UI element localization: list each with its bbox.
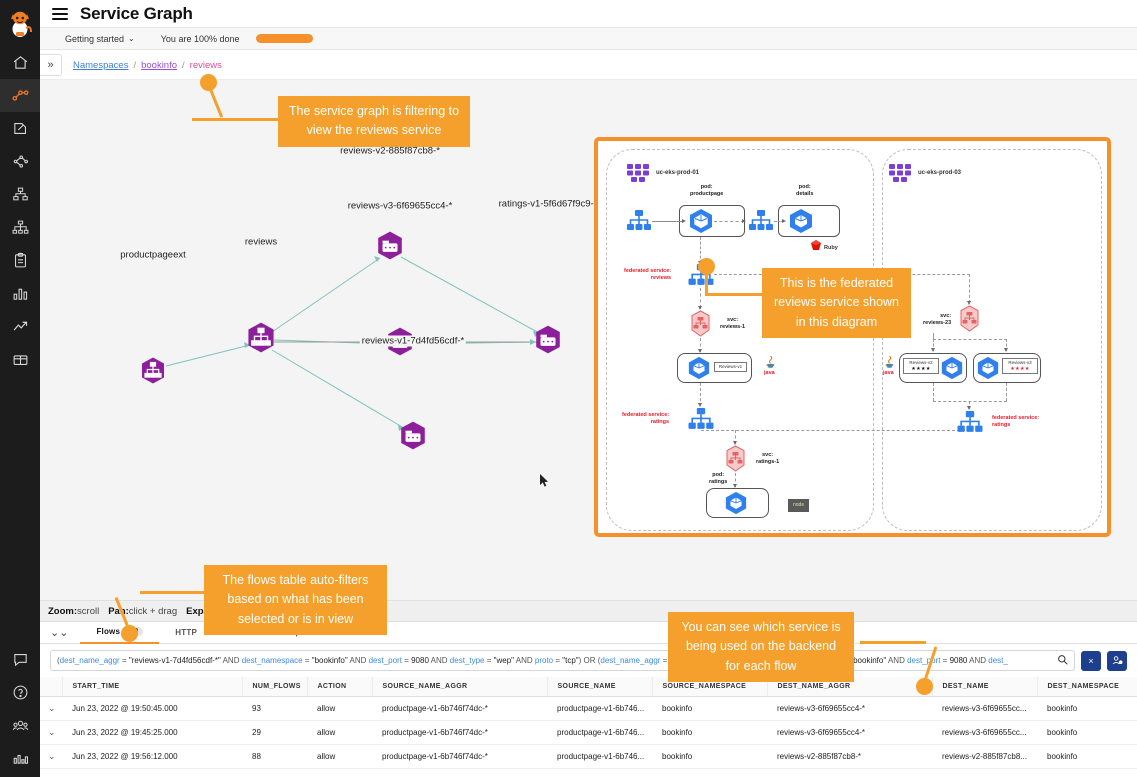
bar-chart-icon[interactable] <box>0 742 40 775</box>
cell-action: allow <box>307 769 372 777</box>
table-header-dest-name[interactable]: DEST_NAME <box>932 677 1037 697</box>
mouse-cursor <box>540 474 550 488</box>
table-header-row: START_TIME NUM_FLOWS ACTION SOURCE_NAME_… <box>40 677 1137 697</box>
callout-line <box>705 293 765 296</box>
cell-dest-namespace: bookinfo <box>1037 769 1137 777</box>
svc-reviews-1-label: svc:reviews-1 <box>720 317 745 332</box>
edge-svc-to-productpage <box>652 221 684 222</box>
pod-reviews-v2-icon <box>940 356 964 380</box>
graph-node-reviews[interactable] <box>246 322 276 359</box>
table-header-source-name-aggr[interactable]: SOURCE_NAME_AGGR <box>372 677 547 697</box>
cluster-icon <box>888 163 914 183</box>
tab-flows[interactable]: Flows 20 <box>80 622 159 644</box>
svc-ratings-1-label: svc:ratings-1 <box>756 452 779 467</box>
graph-node-ratings-v1[interactable] <box>534 325 562 360</box>
edge-fed-ratings-link <box>701 430 970 431</box>
reviews-v2-title: Reviews-v2 <box>906 360 936 366</box>
cell-num-flows: 29 <box>242 721 307 745</box>
cell-source-namespace: bookinfo <box>652 721 767 745</box>
svc-reviews-23-label: svc:reviews-23 <box>923 313 951 328</box>
cell-source-namespace: bookinfo <box>652 697 767 721</box>
cell-start-time: Jun 23, 2022 @ 19:50:45.000 <box>62 697 242 721</box>
pod-details-icon <box>788 208 814 234</box>
arrow-icon <box>782 219 786 223</box>
search-query-text: (dest_name_aggr = "reviews-v1-7d4fd56cdf… <box>57 656 1053 665</box>
cell-dest-name-aggr: reviews-v2-885f87cb8-* <box>767 769 932 777</box>
edge-reviews23-split <box>933 339 1007 340</box>
callout-line <box>140 591 210 594</box>
cell-source-name-aggr: productpage-v1-6b746f74dc-* <box>372 769 547 777</box>
clear-search-button[interactable]: × <box>1081 651 1101 671</box>
save-query-icon[interactable] <box>1107 651 1127 671</box>
breadcrumb-item-namespaces[interactable]: Namespaces <box>73 60 128 71</box>
ruby-logo-icon <box>810 240 822 251</box>
table-row[interactable]: ⌄ Jun 23, 2022 @ 19:50:45.000 93 allow p… <box>40 697 1137 721</box>
callout-dot-backend-service <box>916 678 933 695</box>
cell-dest-name-aggr: reviews-v3-6f69655cc4-* <box>767 697 932 721</box>
pod-reviews-v1-icon <box>687 356 711 380</box>
zoom-hint-value: scroll <box>77 606 99 617</box>
tab-flows-label: Flows <box>96 627 120 636</box>
reviews-v2-card: Reviews-v2 ★★★★ <box>903 358 939 374</box>
callout-dot-flows-autofilter <box>121 625 138 642</box>
edge-merge <box>933 401 1007 402</box>
sidebar-item-endpoints[interactable] <box>0 178 40 211</box>
reviews-v3-title: Reviews-v3 <box>1005 360 1035 366</box>
graph-node-label: reviews-v3-6f69655cc4-* <box>346 201 455 212</box>
cell-action: allow <box>307 721 372 745</box>
cell-start-time: Jun 23, 2022 @ 19:56:12.000 <box>62 745 242 769</box>
table-header-expander <box>40 677 62 697</box>
cluster-icon <box>626 163 652 183</box>
java-badge-label: java <box>764 370 775 377</box>
svc-reviews-1-icon <box>687 310 714 338</box>
graph-node-reviews-v2[interactable] <box>376 231 404 266</box>
table-header-start-time[interactable]: START_TIME <box>62 677 242 697</box>
table-row[interactable]: ⌄ Jun 23, 2022 @ 19:56:12.000 88 allow p… <box>40 745 1137 769</box>
callout-line <box>860 641 926 644</box>
sidebar-item-nodes[interactable] <box>0 145 40 178</box>
left-nav-rail <box>0 0 40 777</box>
cell-dest-name: reviews-v3-6f69655cc... <box>932 721 1037 745</box>
sidebar-item-anomaly-detection[interactable] <box>0 310 40 343</box>
page-title: Service Graph <box>80 4 193 24</box>
cell-source-name: productpage-v1-6b746... <box>547 769 652 777</box>
svc-ratings-1-icon <box>722 445 749 473</box>
reviews-v2-stars: ★★★★ <box>906 366 936 373</box>
table-header-num-flows[interactable]: NUM_FLOWS <box>242 677 307 697</box>
callout-flows-autofilter: The flows table auto-filters based on wh… <box>204 565 387 635</box>
cell-num-flows: 93 <box>242 697 307 721</box>
java-logo-icon <box>765 356 776 369</box>
search-input[interactable]: (dest_name_aggr = "reviews-v1-7d4fd56cdf… <box>50 650 1075 671</box>
svc-reviews-23-icon <box>956 305 983 333</box>
ruby-badge-label: Ruby <box>824 245 838 252</box>
flows-table-element: START_TIME NUM_FLOWS ACTION SOURCE_NAME_… <box>40 677 1137 777</box>
chat-icon[interactable] <box>0 643 40 676</box>
pod-details-label: pod:details <box>796 184 813 199</box>
tab-http-label: HTTP <box>175 628 197 637</box>
federated-service-ratings-right-icon <box>956 410 984 435</box>
table-row[interactable]: ⌄ Jun 23, 2022 @ 19:50:45.000 72 allow p… <box>40 769 1137 777</box>
cell-action: allow <box>307 745 372 769</box>
cell-source-name: productpage-v1-6b746... <box>547 697 652 721</box>
callout-dot-service-graph-filter <box>200 74 217 91</box>
cell-dest-name: reviews-v2-885f87cb8... <box>932 745 1037 769</box>
service-icon <box>748 209 774 233</box>
breadcrumb: Namespaces / bookinfo / reviews <box>73 50 222 80</box>
callout-federated-reviews: This is the federated reviews service sh… <box>762 268 911 338</box>
reviews-v3-card: Reviews-v3 ★★★★ <box>1002 358 1038 374</box>
row-expander-icon[interactable]: ⌄ <box>40 697 62 721</box>
arrow-icon <box>1004 348 1008 352</box>
service-icon <box>626 209 652 233</box>
java-badge-label: java <box>883 370 894 377</box>
sidebar-item-image-assurance[interactable] <box>0 343 40 376</box>
graph-node-label: ratings-v1-5f6d67f9c9-* <box>497 199 600 210</box>
chevron-down-icon: ⌄ <box>128 34 135 43</box>
edge-productpage-to-svc2 <box>714 221 744 222</box>
breadcrumb-separator: / <box>133 60 136 71</box>
cell-dest-name-aggr: reviews-v2-885f87cb8-* <box>767 745 932 769</box>
cell-num-flows: 88 <box>242 745 307 769</box>
edge-fed-reviews-down <box>700 288 701 308</box>
table-header-action[interactable]: ACTION <box>307 677 372 697</box>
federated-service-reviews-label: federated service:reviews <box>624 268 671 283</box>
node-badge: node <box>788 499 809 512</box>
arrow-icon <box>682 219 686 223</box>
pod-ratings-icon <box>724 491 748 515</box>
edge-v3-down <box>1006 383 1007 401</box>
callout-dot-federated-reviews <box>698 258 715 275</box>
breadcrumb-item-reviews: reviews <box>190 60 222 71</box>
cell-source-namespace: bookinfo <box>652 769 767 777</box>
tigera-logo-icon[interactable] <box>0 0 40 46</box>
getting-started-done-text: You are 100% done <box>161 34 240 44</box>
collapse-panel-icon[interactable]: ⌄⌄ <box>50 626 68 639</box>
reviews-v1-card: Reviews-v1 <box>714 362 747 372</box>
pod-reviews-v3-icon <box>976 356 1000 380</box>
cell-dest-namespace: bookinfo <box>1037 721 1137 745</box>
graph-node-label: productpageext <box>118 250 188 261</box>
cell-dest-name-aggr: reviews-v3-6f69655cc4-* <box>767 721 932 745</box>
cell-source-name: productpage-v1-6b746... <box>547 745 652 769</box>
breadcrumb-separator: / <box>182 60 185 71</box>
flows-search-row: (dest_name_aggr = "reviews-v1-7d4fd56cdf… <box>40 644 1137 677</box>
graph-node-label: reviews-v1-7d4fd56cdf-* <box>360 336 466 347</box>
cell-start-time: Jun 23, 2022 @ 19:45:25.000 <box>62 721 242 745</box>
cluster-uc-eks-prod-03 <box>882 149 1102 531</box>
sidebar-item-home[interactable] <box>0 46 40 79</box>
help-icon[interactable] <box>0 676 40 709</box>
getting-started-progress <box>256 34 313 43</box>
row-expander-icon[interactable]: ⌄ <box>40 769 62 777</box>
pod-productpage-icon <box>688 208 714 234</box>
federated-service-ratings-icon <box>687 407 715 432</box>
cell-action: allow <box>307 697 372 721</box>
zoom-hint: Zoom:scroll <box>48 606 99 617</box>
getting-started-dropdown[interactable]: Getting started ⌄ <box>65 34 135 44</box>
sidebar-item-compliance[interactable] <box>0 244 40 277</box>
sidebar-item-dashboards[interactable] <box>0 277 40 310</box>
cell-start-time: Jun 23, 2022 @ 19:50:45.000 <box>62 769 242 777</box>
graph-node-reviews-v1[interactable] <box>399 421 427 456</box>
cell-source-name: productpage-v1-6b746... <box>547 721 652 745</box>
row-expander-icon[interactable]: ⌄ <box>40 745 62 769</box>
search-icon[interactable] <box>1057 654 1068 667</box>
federated-service-ratings-label: federated service:ratings <box>622 412 669 427</box>
pod-productpage-label: pod:productpage <box>690 184 723 199</box>
pan-hint-value: click + drag <box>129 606 177 617</box>
reviews-v3-stars: ★★★★ <box>1005 366 1035 373</box>
graph-node-label: reviews-v2-885f87cb8-* <box>338 146 442 157</box>
cell-dest-namespace: bookinfo <box>1037 745 1137 769</box>
callout-service-graph-filter: The service graph is filtering to view t… <box>278 96 470 147</box>
table-row[interactable]: ⌄ Jun 23, 2022 @ 19:45:25.000 29 allow p… <box>40 721 1137 745</box>
cell-source-name-aggr: productpage-v1-6b746f74dc-* <box>372 697 547 721</box>
java-logo-icon <box>884 356 895 369</box>
row-expander-icon[interactable]: ⌄ <box>40 721 62 745</box>
cell-num-flows: 72 <box>242 769 307 777</box>
arrow-icon <box>931 348 935 352</box>
hamburger-icon[interactable] <box>52 8 68 20</box>
cluster-label-prod-03: uc-eks-prod-03 <box>918 170 961 176</box>
zoom-hint-key: Zoom: <box>48 606 77 617</box>
pod-ratings-label: pod:ratings <box>709 472 727 487</box>
table-header-source-name[interactable]: SOURCE_NAME <box>547 677 652 697</box>
cell-dest-name: reviews-v2-885f87cb8... <box>932 769 1037 777</box>
cell-source-namespace: bookinfo <box>652 745 767 769</box>
app-header: Service Graph <box>40 0 1137 28</box>
sidebar-item-policies[interactable] <box>0 112 40 145</box>
sidebar-item-service-graph[interactable] <box>0 79 40 112</box>
graph-node-label: reviews <box>243 237 279 248</box>
flows-table[interactable]: START_TIME NUM_FLOWS ACTION SOURCE_NAME_… <box>40 677 1137 777</box>
sidebar-expand-button[interactable]: » <box>40 54 62 76</box>
cell-dest-namespace: bookinfo <box>1037 697 1137 721</box>
federated-service-ratings-right-label: federated service:ratings <box>992 415 1039 430</box>
cell-source-name-aggr: productpage-v1-6b746f74dc-* <box>372 745 547 769</box>
arrow-icon <box>742 219 746 223</box>
cell-dest-name: reviews-v3-6f69655cc... <box>932 697 1037 721</box>
callout-backend-service: You can see which service is being used … <box>668 612 854 682</box>
graph-node-productpageext[interactable] <box>140 357 166 390</box>
edge-prod03-down <box>969 274 970 303</box>
sidebar-item-network-sets[interactable] <box>0 211 40 244</box>
users-icon[interactable] <box>0 709 40 742</box>
cell-source-name-aggr: productpage-v1-6b746f74dc-* <box>372 721 547 745</box>
edge-v2-down <box>933 383 934 401</box>
table-header-dest-namespace[interactable]: DEST_NAMESPACE <box>1037 677 1137 697</box>
breadcrumb-item-bookinfo[interactable]: bookinfo <box>141 60 177 71</box>
getting-started-label: Getting started <box>65 34 124 44</box>
getting-started-bar: Getting started ⌄ You are 100% done <box>40 28 1137 50</box>
callout-line <box>192 118 282 121</box>
cluster-label-prod-01: uc-eks-prod-01 <box>656 170 699 176</box>
